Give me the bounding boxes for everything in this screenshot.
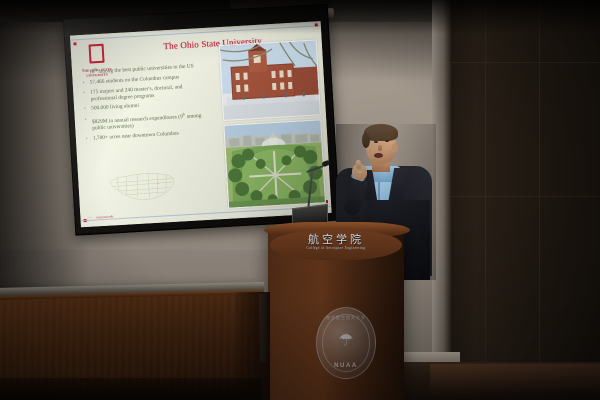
podium-english-text: College of Aerospace Engineering [272, 246, 400, 250]
projection-screen[interactable]: THE OHIO STATE UNIVERSITY The Ohio State… [63, 4, 340, 236]
bullet-marker-icon: • [86, 136, 90, 143]
speaker-ear [392, 143, 398, 152]
slide-corner-mark [315, 23, 318, 26]
emblem-glyph-icon: ☂ [338, 332, 353, 349]
bullet-marker-icon: • [84, 106, 88, 113]
speaker-mouth [374, 153, 383, 158]
podium-chinese-text: 航空学院 [272, 231, 400, 247]
slide-bullet-list: •16th among the best public universities… [82, 60, 206, 146]
speaker-eye-right [385, 140, 389, 142]
speaker-nose [378, 145, 382, 151]
speaker-eye-left [374, 141, 378, 143]
emblem-acronym: NUAA [317, 363, 375, 369]
bullet-marker-icon: • [83, 90, 88, 103]
speaker-finger [355, 160, 361, 170]
footer-mark: — [88, 215, 92, 220]
slide-corner-mark [73, 42, 76, 45]
emblem-chinese-text: 南京航空航天大学 [317, 315, 375, 321]
slide-bullet-text: $829M in annual research expenditures (9… [92, 110, 206, 132]
desk-underside [0, 378, 262, 400]
lecture-hall-scene: THE OHIO STATE UNIVERSITY The Ohio State… [0, 0, 600, 400]
wall-pillar [432, 0, 451, 368]
footer-url: osu.osu.edu [96, 214, 113, 219]
floor-reflection [430, 364, 600, 394]
us-map-graphic [106, 166, 180, 208]
bullet-marker-icon: • [85, 116, 90, 132]
dark-wood-wall-panel [449, 0, 600, 400]
speaker-hair-side [362, 132, 370, 148]
block-o-icon [88, 44, 104, 64]
presentation-slide: THE OHIO STATE UNIVERSITY The Ohio State… [70, 21, 332, 227]
bullet-marker-icon: • [83, 79, 87, 86]
bullet-marker-icon: • [82, 67, 87, 77]
speaker-ring [357, 171, 362, 173]
university-hall-photo [219, 39, 321, 121]
nuaa-emblem: 南京航空航天大学 ☂ NUAA [316, 307, 376, 379]
